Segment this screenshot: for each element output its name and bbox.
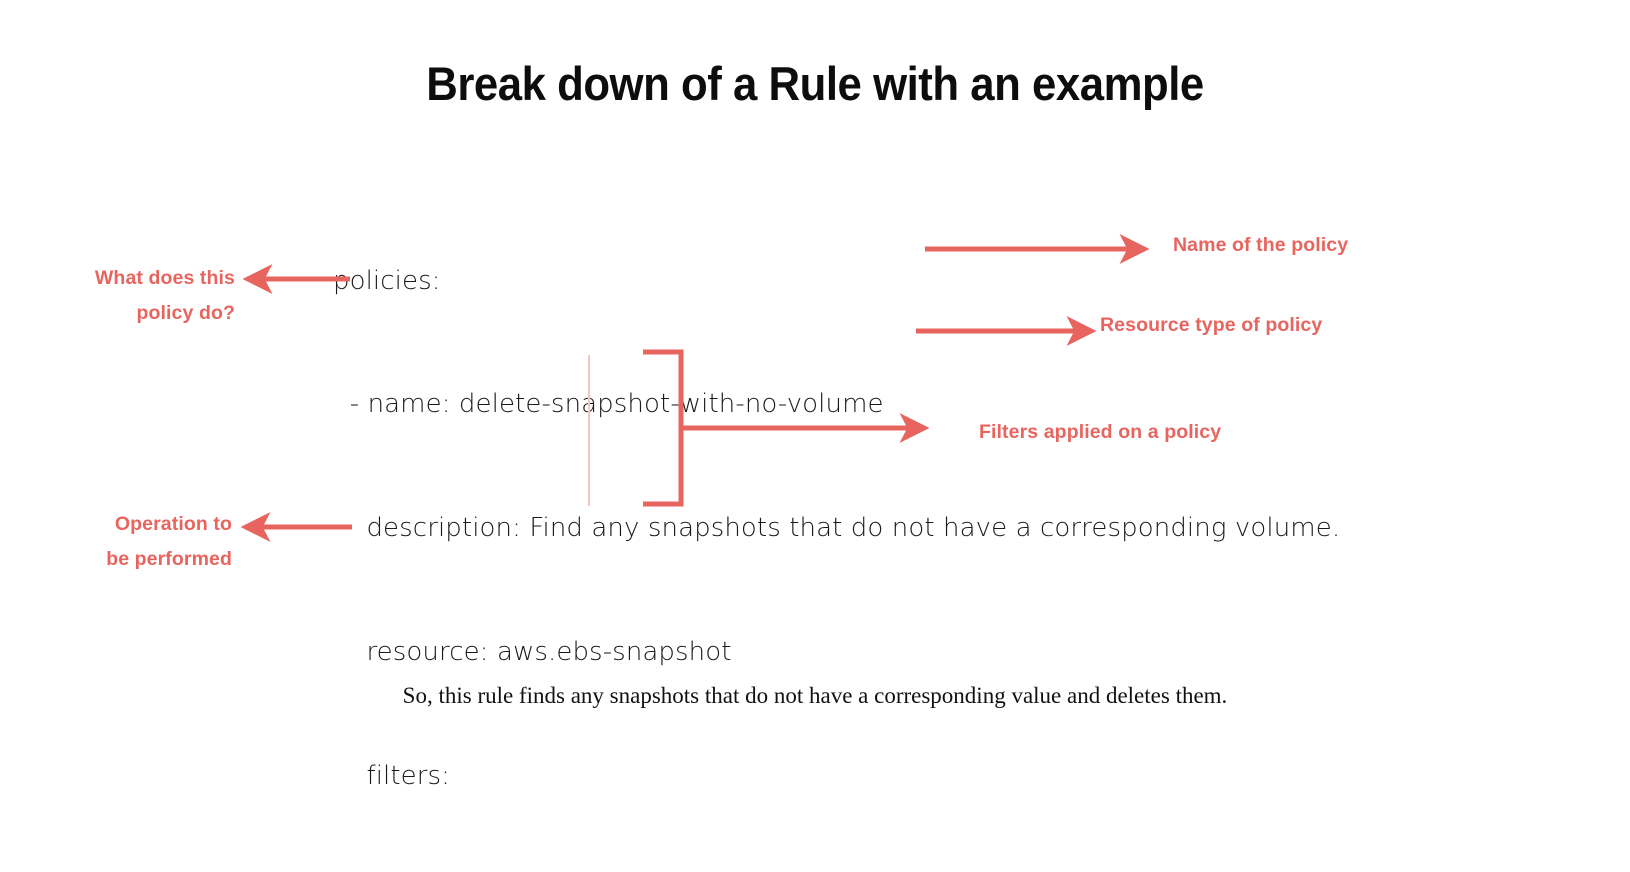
code-line-filters: filters: bbox=[333, 756, 1340, 797]
code-line-policies: policies: bbox=[333, 261, 1340, 302]
code-line-description: description: Find any snapshots that do … bbox=[333, 508, 1340, 549]
slide-canvas: Break down of a Rule with an example pol… bbox=[0, 0, 1630, 872]
annotation-filters-applied: Filters applied on a policy bbox=[979, 415, 1221, 450]
code-line-resource: resource: aws.ebs-snapshot bbox=[333, 632, 1340, 673]
annotation-what-does-policy-do: What does this policy do? bbox=[20, 261, 235, 331]
annotation-name-of-policy: Name of the policy bbox=[1173, 228, 1348, 263]
summary-caption: So, this rule finds any snapshots that d… bbox=[0, 683, 1630, 709]
page-title: Break down of a Rule with an example bbox=[57, 56, 1573, 111]
annotation-operation-performed: Operation to be performed bbox=[20, 507, 232, 577]
yaml-code-block: policies: - name: delete-snapshot-with-n… bbox=[333, 178, 1340, 872]
annotation-resource-type: Resource type of policy bbox=[1100, 308, 1322, 343]
